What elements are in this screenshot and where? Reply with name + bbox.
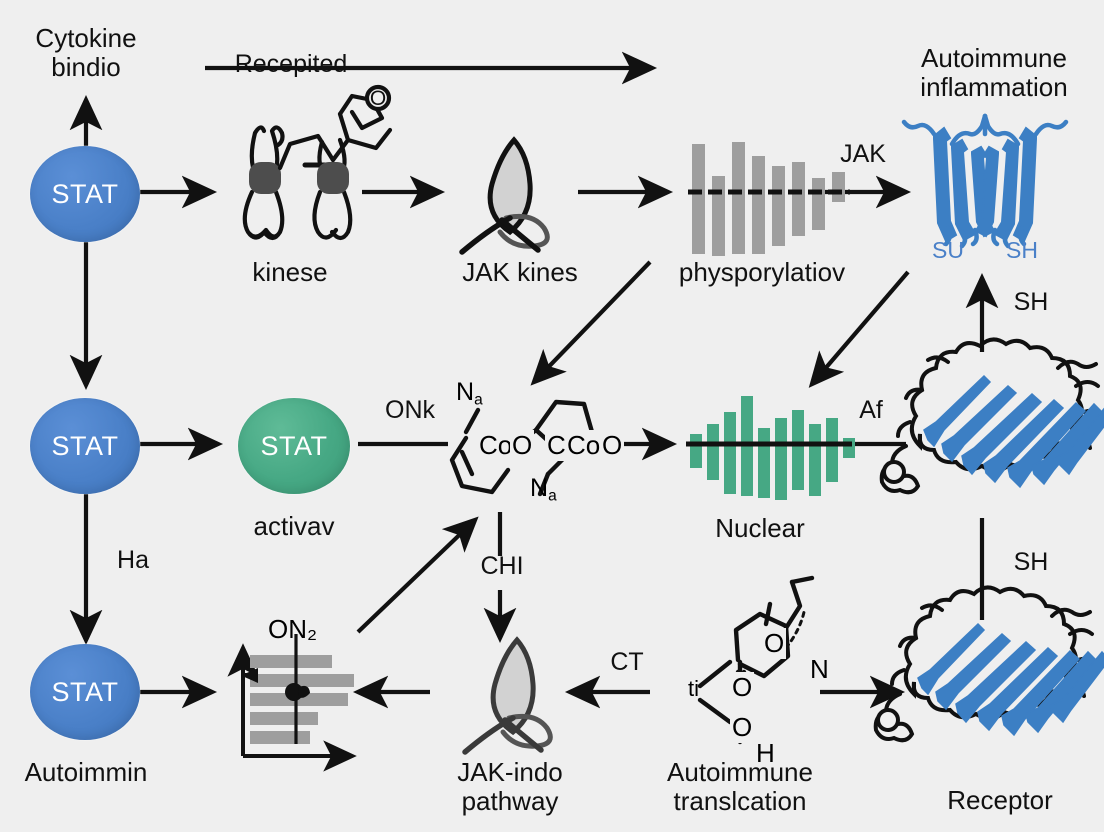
caption-physporylatiov: physporylatiov	[640, 258, 884, 287]
chem-label-o-left: O	[510, 430, 534, 461]
caption-autoimmune-translocation: Autoimmune translcation	[620, 758, 860, 816]
chem-label-bottom-o-low: O	[730, 712, 754, 743]
caption-jak-kines: JAK kines	[430, 258, 610, 287]
chem-label-co-right: Co	[565, 430, 602, 461]
node-stat-activ[interactable]: STAT	[238, 398, 350, 494]
chem-label-bottom-ti: ti	[688, 676, 699, 702]
chem-label-o-right: O	[600, 430, 624, 461]
label-su: SU	[918, 238, 978, 264]
diagram-canvas: O	[0, 0, 1104, 832]
node-stat-bottom[interactable]: STAT	[30, 644, 140, 740]
caption-autoimmune-inflammation: Autoimmune inflammation	[884, 44, 1104, 102]
beta-barrel-icon-mid	[882, 339, 1104, 492]
chromosome-molecule-icon: O	[245, 87, 390, 238]
edge-label-ha: Ha	[98, 546, 168, 575]
caption-autoimmin: Autoimmin	[0, 758, 172, 787]
node-stat-top[interactable]: STAT	[30, 146, 140, 242]
bar-plot-axes-icon	[241, 634, 354, 756]
edge-label-af: Af	[836, 396, 906, 425]
edge-label-onk: ONk	[366, 396, 454, 425]
edge-label-sh-bottom: SH	[996, 548, 1066, 577]
caption-kinese: kinese	[200, 258, 380, 287]
green-bar-chart-icon	[686, 396, 855, 500]
edge-label-chi: CHI	[464, 552, 540, 581]
chem-label-bottom-o-ring: O	[730, 672, 754, 703]
node-stat-mid-label: STAT	[52, 431, 119, 462]
chem-label-na-left: Na	[456, 378, 483, 409]
chem-label-co-left: Co	[477, 430, 514, 461]
node-stat-mid[interactable]: STAT	[30, 398, 140, 494]
caption-jak-indo-pathway: JAK-indo pathway	[420, 758, 600, 816]
caption-cytokine-bindio: Cytokine bindio	[0, 24, 172, 82]
chem-label-bottom-n: N	[808, 654, 831, 685]
edge-label-jak: JAK	[820, 140, 906, 169]
caption-activav: activav	[212, 512, 376, 541]
chem-label-bottom-o-top: O	[762, 628, 786, 659]
edge-label-recepited: Recepited	[196, 50, 386, 79]
chem-label-na-right: Na	[530, 474, 557, 505]
chem-label-bottom-h: H	[756, 738, 775, 769]
svg-text:O: O	[370, 87, 386, 110]
edge-label-ct: CT	[592, 648, 662, 677]
node-stat-activ-label: STAT	[261, 431, 328, 462]
beta-sheet-dimer-icon	[904, 116, 1066, 246]
arrow-inflammation-to-nuclear	[812, 272, 908, 384]
node-stat-bottom-label: STAT	[52, 677, 119, 708]
node-stat-top-label: STAT	[52, 179, 119, 210]
label-sh: SH	[992, 238, 1052, 264]
diagram-connectors-layer: O	[0, 0, 1104, 832]
caption-receptor: Receptor	[900, 786, 1100, 815]
caption-nuclear: Nuclear	[660, 514, 860, 543]
chemical-structure-icon-bottom	[700, 578, 812, 742]
annotation-on2: ON₂	[268, 614, 317, 645]
beta-barrel-icon-receptor	[876, 587, 1104, 740]
ribbon-loop-icon-bottom	[465, 640, 550, 752]
edge-label-sh-top: SH	[996, 288, 1066, 317]
ribbon-loop-icon	[462, 140, 547, 252]
